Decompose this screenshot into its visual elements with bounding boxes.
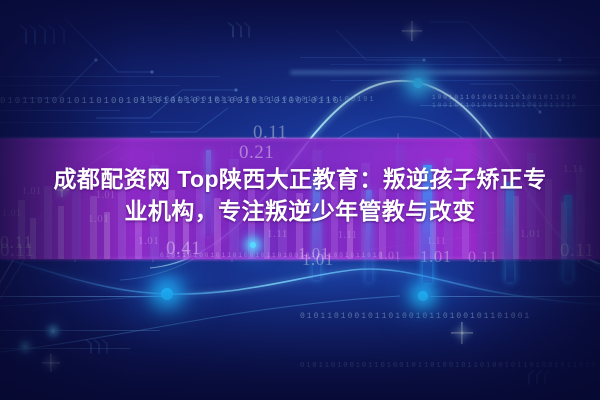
headline-line-2: 业机构，专注叛逆少年管教与改变	[0, 195, 600, 227]
banner-image: 0.11 0.211.111.011.011.011.011.110.111.0…	[0, 0, 600, 400]
headline-line-1: 成都配资网 Top陕西大正教育：叛逆孩子矫正专	[0, 163, 600, 195]
headline: 成都配资网 Top陕西大正教育：叛逆孩子矫正专 业机构，专注叛逆少年管教与改变	[0, 163, 600, 227]
